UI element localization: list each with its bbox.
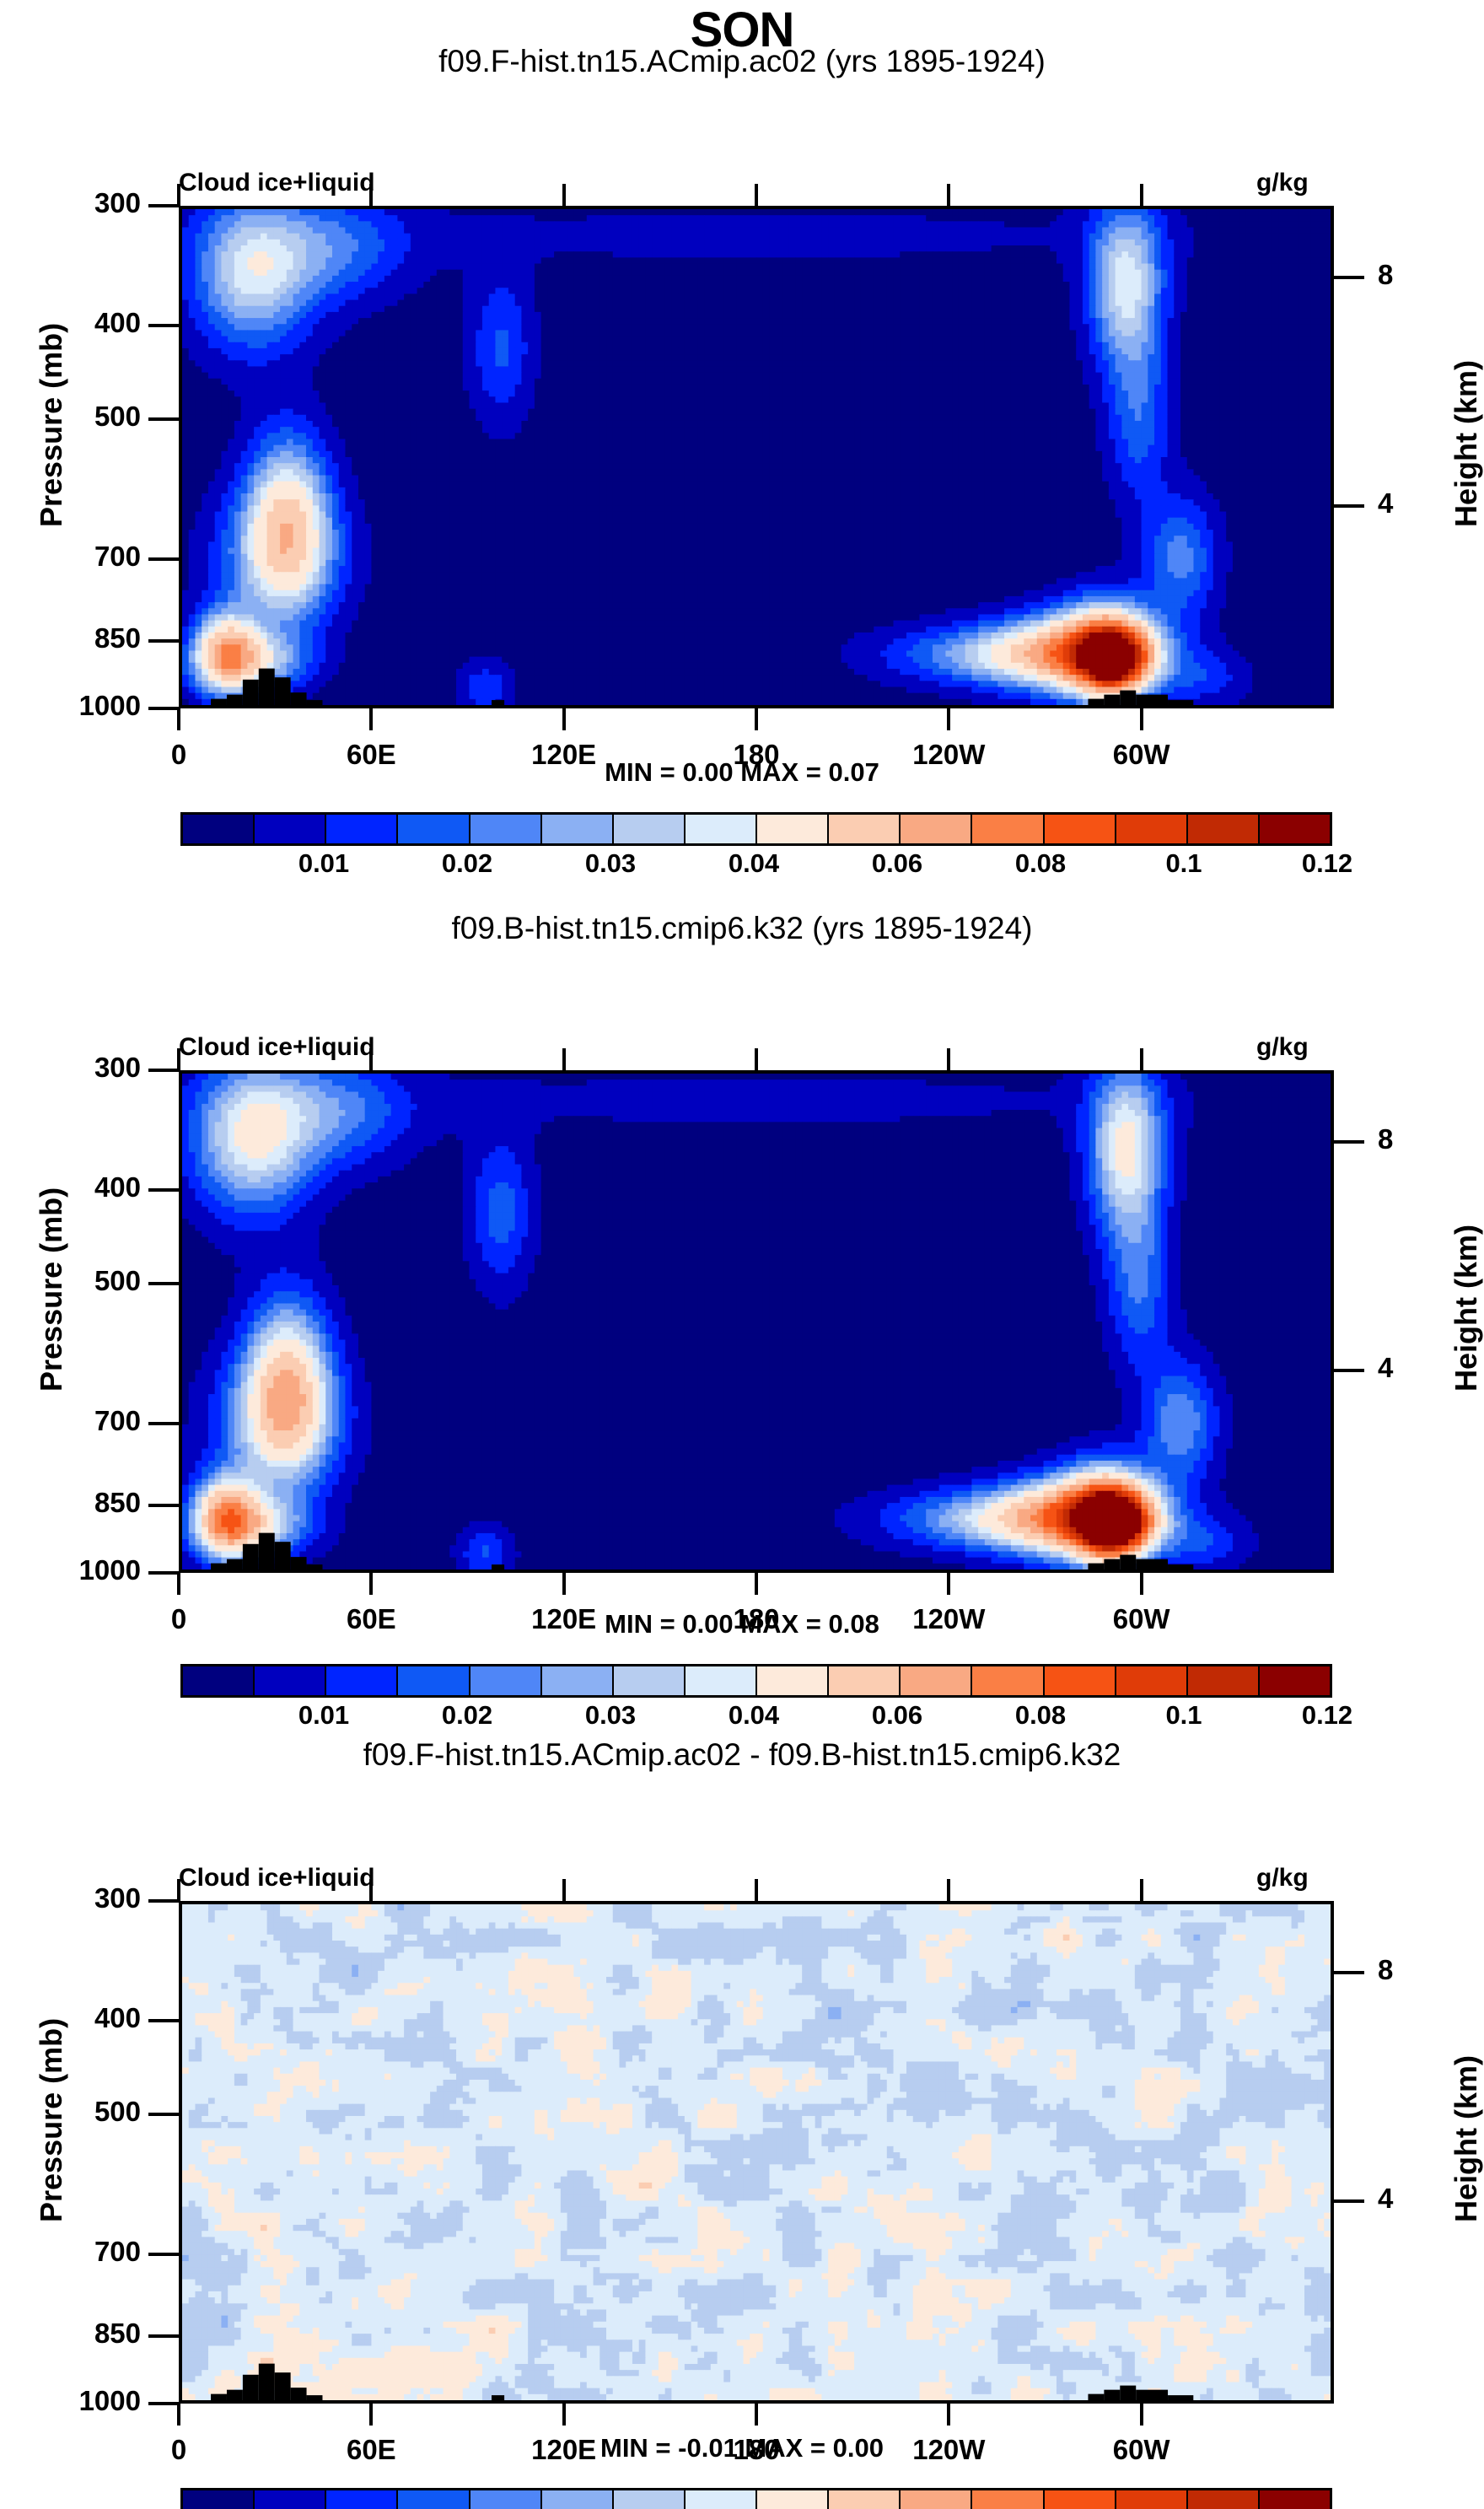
colorbar-cell-10[interactable] — [901, 2490, 972, 2509]
xtick-mark-bottom — [755, 1573, 758, 1595]
colorbar-cell-12[interactable] — [1045, 2490, 1116, 2509]
colorbar-cell-6[interactable] — [614, 815, 686, 843]
xtick-mark-top — [755, 1879, 758, 1901]
xtick-mark-bottom — [369, 708, 373, 730]
xtick-mark-top — [177, 1048, 180, 1070]
xtick-mark-top — [562, 1048, 566, 1070]
xtick-label-180: 180 — [689, 739, 824, 771]
colorbar-cell-9[interactable] — [829, 815, 901, 843]
ytick-mark — [148, 2019, 179, 2022]
xtick-label-180: 180 — [689, 1603, 824, 1635]
ytick-right-mark — [1334, 1971, 1364, 1974]
ytick-right-mark — [1334, 1140, 1364, 1144]
colorbar-cell-2[interactable] — [326, 1666, 398, 1695]
ytick-mark — [148, 324, 179, 327]
panel-1-units: g/kg — [1256, 169, 1309, 197]
panel-1-plot — [179, 206, 1334, 708]
xtick-label-60E: 60E — [304, 2434, 438, 2466]
xtick-mark-top — [755, 1048, 758, 1070]
xtick-label-120E: 120E — [497, 1603, 632, 1635]
colorbar-cell-1[interactable] — [255, 815, 326, 843]
panel-2-colorbar[interactable] — [180, 1664, 1332, 1698]
colorbar-cell-12[interactable] — [1045, 1666, 1116, 1695]
ytick-right-mark — [1334, 504, 1364, 508]
colorbar-cell-8[interactable] — [757, 815, 829, 843]
xtick-mark-bottom — [177, 2404, 180, 2426]
panel-3-ylabel-right: Height (km) — [1449, 2055, 1484, 2222]
xtick-mark-top — [947, 184, 950, 206]
panel-2-field-label: Cloud ice+liquid — [179, 1033, 375, 1062]
xtick-mark-bottom — [755, 708, 758, 730]
colorbar-cell-3[interactable] — [398, 815, 470, 843]
ytick-mark — [148, 2402, 179, 2405]
colorbar-cell-13[interactable] — [1116, 815, 1188, 843]
colorbar-cell-4[interactable] — [470, 2490, 542, 2509]
colorbar-cell-1[interactable] — [255, 2490, 326, 2509]
ytick-right-label-4: 4 — [1378, 487, 1393, 520]
ytick-right-label-8: 8 — [1378, 259, 1393, 291]
ytick-label-700: 700 — [44, 2236, 141, 2268]
ytick-label-400: 400 — [44, 307, 141, 339]
ytick-right-label-4: 4 — [1378, 1352, 1393, 1384]
xtick-label-120E: 120E — [497, 739, 632, 771]
panel-1-ylabel-right: Height (km) — [1449, 360, 1484, 527]
xtick-mark-top — [1140, 1879, 1143, 1901]
panel-2-ylabel-right: Height (km) — [1449, 1225, 1484, 1392]
colorbar-cell-7[interactable] — [686, 2490, 757, 2509]
panel-2-title: f09.B-hist.tn15.cmip6.k32 (yrs 1895-1924… — [0, 911, 1484, 946]
xtick-mark-bottom — [1140, 708, 1143, 730]
xtick-mark-top — [562, 184, 566, 206]
xtick-label-60W: 60W — [1074, 1603, 1209, 1635]
xtick-mark-bottom — [562, 2404, 566, 2426]
xtick-mark-top — [177, 184, 180, 206]
xtick-mark-bottom — [755, 2404, 758, 2426]
colorbar-cell-5[interactable] — [542, 815, 614, 843]
colorbar-cell-15[interactable] — [1260, 1666, 1330, 1695]
panel-3-colorbar[interactable] — [180, 2488, 1332, 2509]
ytick-label-1000: 1000 — [44, 690, 141, 722]
colorbar-cell-2[interactable] — [326, 2490, 398, 2509]
colorbar-cell-14[interactable] — [1188, 1666, 1260, 1695]
xtick-label-120W: 120W — [881, 739, 1016, 771]
colorbar-cell-13[interactable] — [1116, 2490, 1188, 2509]
ytick-right-mark — [1334, 276, 1364, 279]
panel-3: f09.F-hist.tn15.ACmip.ac02 - f09.B-hist.… — [0, 1704, 1484, 2509]
xtick-label-60E: 60E — [304, 1603, 438, 1635]
xtick-mark-bottom — [562, 1573, 566, 1595]
ytick-mark — [148, 639, 179, 643]
ytick-mark — [148, 1571, 179, 1575]
xtick-label-60E: 60E — [304, 739, 438, 771]
ytick-mark — [148, 417, 179, 421]
colorbar-cell-15[interactable] — [1260, 815, 1330, 843]
colorbar-cell-0[interactable] — [183, 2490, 255, 2509]
xtick-mark-top — [755, 184, 758, 206]
colorbar-cell-14[interactable] — [1188, 815, 1260, 843]
xtick-mark-bottom — [1140, 1573, 1143, 1595]
ytick-label-500: 500 — [44, 1265, 141, 1297]
xtick-mark-top — [947, 1879, 950, 1901]
colorbar-cell-7[interactable] — [686, 815, 757, 843]
xtick-label-120E: 120E — [497, 2434, 632, 2466]
panel-3-plot — [179, 1901, 1334, 2404]
xtick-label-0: 0 — [111, 739, 246, 771]
ytick-mark — [148, 707, 179, 710]
ytick-label-300: 300 — [44, 1882, 141, 1914]
xtick-mark-bottom — [562, 708, 566, 730]
colorbar-cell-3[interactable] — [398, 2490, 470, 2509]
contour-field — [182, 1904, 1331, 2400]
xtick-mark-top — [369, 184, 373, 206]
xtick-mark-bottom — [177, 1573, 180, 1595]
ytick-mark — [148, 1422, 179, 1425]
colorbar-cell-10[interactable] — [901, 1666, 972, 1695]
ytick-right-mark — [1334, 1369, 1364, 1372]
colorbar-cell-1[interactable] — [255, 1666, 326, 1695]
ytick-right-label-8: 8 — [1378, 1123, 1393, 1155]
xtick-mark-bottom — [369, 2404, 373, 2426]
colorbar-cell-9[interactable] — [829, 2490, 901, 2509]
ytick-label-850: 850 — [44, 1487, 141, 1519]
colorbar-cell-11[interactable] — [972, 2490, 1044, 2509]
ytick-label-1000: 1000 — [44, 1554, 141, 1586]
colorbar-cell-6[interactable] — [614, 1666, 686, 1695]
colorbar-cell-3[interactable] — [398, 1666, 470, 1695]
colorbar-cell-10[interactable] — [901, 815, 972, 843]
xtick-mark-top — [1140, 184, 1143, 206]
ytick-label-700: 700 — [44, 1405, 141, 1437]
colorbar-cell-8[interactable] — [757, 1666, 829, 1695]
xtick-mark-top — [177, 1879, 180, 1901]
ytick-label-400: 400 — [44, 1171, 141, 1203]
colorbar-cell-15[interactable] — [1260, 2490, 1330, 2509]
ytick-label-850: 850 — [44, 622, 141, 654]
ytick-label-400: 400 — [44, 2002, 141, 2034]
xtick-label-60W: 60W — [1074, 2434, 1209, 2466]
panel-2-units: g/kg — [1256, 1033, 1309, 1062]
xtick-mark-top — [369, 1879, 373, 1901]
xtick-mark-top — [1140, 1048, 1143, 1070]
ytick-label-850: 850 — [44, 2318, 141, 2350]
colorbar-cell-5[interactable] — [542, 2490, 614, 2509]
ytick-label-300: 300 — [44, 1052, 141, 1084]
xtick-label-0: 0 — [111, 1603, 246, 1635]
colorbar-cell-6[interactable] — [614, 2490, 686, 2509]
panel-1-title: f09.F-hist.tn15.ACmip.ac02 (yrs 1895-192… — [0, 44, 1484, 79]
ytick-mark — [148, 557, 179, 561]
colorbar-cell-14[interactable] — [1188, 2490, 1260, 2509]
xtick-mark-bottom — [369, 1573, 373, 1595]
ytick-mark — [148, 1188, 179, 1192]
colorbar-cell-5[interactable] — [542, 1666, 614, 1695]
contour-field — [182, 1074, 1331, 1569]
colorbar-cell-4[interactable] — [470, 815, 542, 843]
ytick-label-300: 300 — [44, 187, 141, 219]
xtick-label-180: 180 — [689, 2434, 824, 2466]
colorbar-cell-9[interactable] — [829, 1666, 901, 1695]
ytick-mark — [148, 1069, 179, 1072]
ytick-mark — [148, 2113, 179, 2116]
panel-1-field-label: Cloud ice+liquid — [179, 169, 375, 197]
colorbar-cell-0[interactable] — [183, 815, 255, 843]
colorbar-cell-8[interactable] — [757, 2490, 829, 2509]
ytick-mark — [148, 1899, 179, 1903]
contour-field — [182, 209, 1331, 705]
colorbar-cell-0[interactable] — [183, 1666, 255, 1695]
xtick-mark-bottom — [947, 1573, 950, 1595]
colorbar-cell-13[interactable] — [1116, 1666, 1188, 1695]
panel-3-units: g/kg — [1256, 1864, 1309, 1893]
ytick-mark — [148, 1504, 179, 1507]
xtick-mark-bottom — [947, 2404, 950, 2426]
xtick-label-120W: 120W — [881, 2434, 1016, 2466]
panel-2: f09.B-hist.tn15.cmip6.k32 (yrs 1895-1924… — [0, 864, 1484, 1733]
xtick-label-0: 0 — [111, 2434, 246, 2466]
colorbar-cell-12[interactable] — [1045, 815, 1116, 843]
ytick-label-1000: 1000 — [44, 2385, 141, 2417]
xtick-mark-bottom — [1140, 2404, 1143, 2426]
panel-2-plot — [179, 1070, 1334, 1573]
colorbar-cell-7[interactable] — [686, 1666, 757, 1695]
ytick-label-500: 500 — [44, 2096, 141, 2128]
ytick-label-500: 500 — [44, 401, 141, 433]
ytick-label-700: 700 — [44, 541, 141, 573]
xtick-mark-top — [562, 1879, 566, 1901]
ytick-mark — [148, 2253, 179, 2256]
colorbar-cell-2[interactable] — [326, 815, 398, 843]
panel-1: f09.F-hist.tn15.ACmip.ac02 (yrs 1895-192… — [0, 0, 1484, 877]
figure-page: SON f09.F-hist.tn15.ACmip.ac02 (yrs 1895… — [0, 0, 1484, 2509]
colorbar-cell-11[interactable] — [972, 1666, 1044, 1695]
panel-3-title: f09.F-hist.tn15.ACmip.ac02 - f09.B-hist.… — [0, 1737, 1484, 1773]
xtick-mark-top — [947, 1048, 950, 1070]
ytick-mark — [148, 2334, 179, 2338]
xtick-mark-bottom — [947, 708, 950, 730]
panel-1-colorbar[interactable] — [180, 812, 1332, 846]
colorbar-cell-11[interactable] — [972, 815, 1044, 843]
xtick-mark-top — [369, 1048, 373, 1070]
xtick-label-60W: 60W — [1074, 739, 1209, 771]
xtick-label-120W: 120W — [881, 1603, 1016, 1635]
ytick-right-label-8: 8 — [1378, 1954, 1393, 1986]
xtick-mark-bottom — [177, 708, 180, 730]
ytick-right-mark — [1334, 2199, 1364, 2203]
ytick-mark — [148, 204, 179, 207]
ytick-mark — [148, 1282, 179, 1285]
panel-3-field-label: Cloud ice+liquid — [179, 1864, 375, 1893]
ytick-right-label-4: 4 — [1378, 2183, 1393, 2215]
colorbar-cell-4[interactable] — [470, 1666, 542, 1695]
